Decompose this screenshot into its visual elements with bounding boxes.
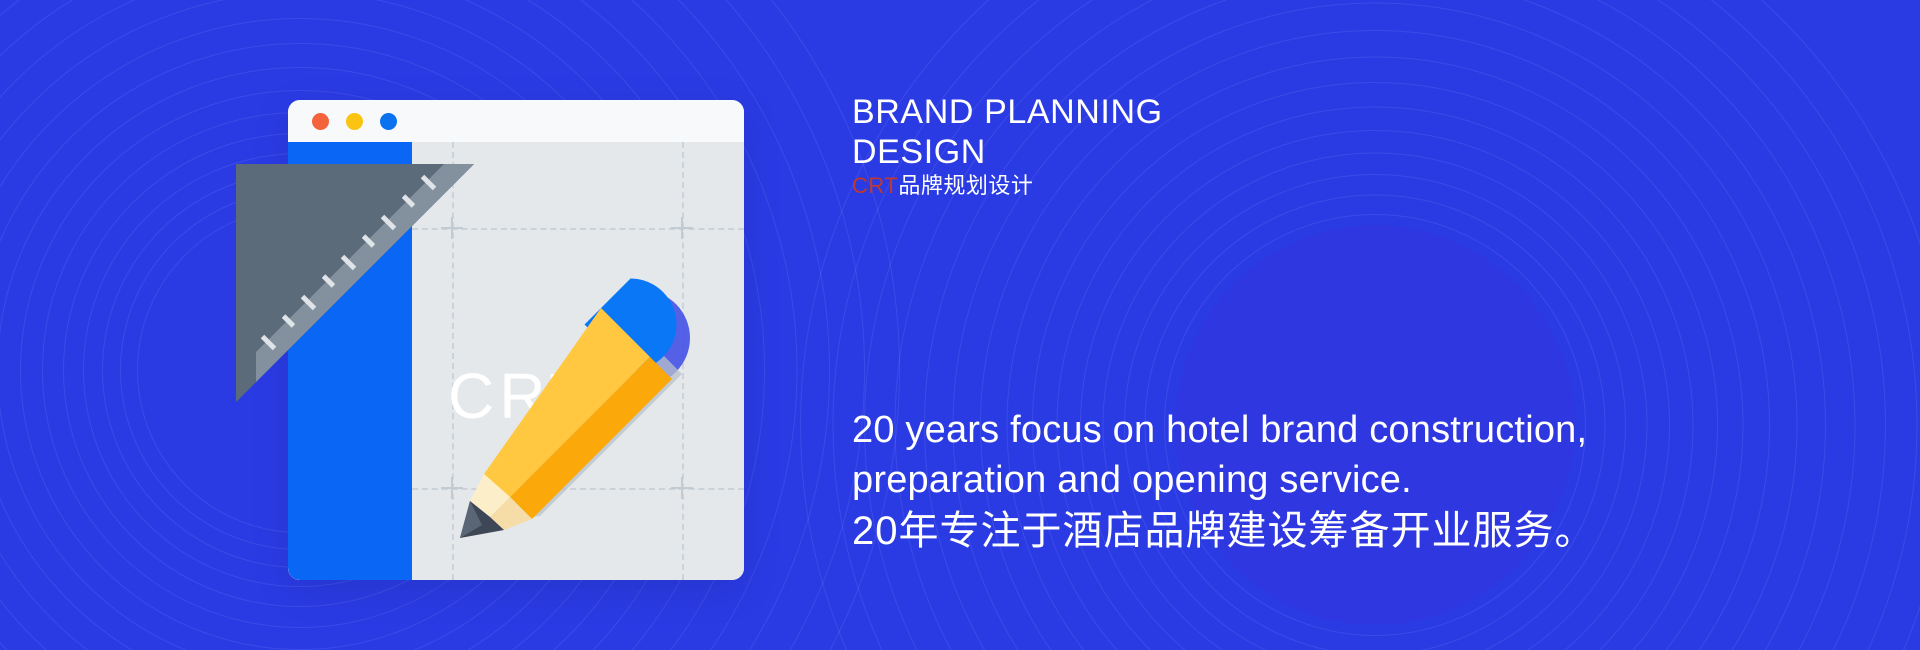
window-controls	[312, 113, 397, 130]
pencil-icon	[446, 220, 746, 550]
window-maximize-dot[interactable]	[380, 113, 397, 130]
tagline-chinese: 20年专注于酒店品牌建设筹备开业服务。	[852, 505, 1596, 557]
hero-illustration: CRT’	[230, 70, 750, 590]
headline: BRAND PLANNING DESIGN	[852, 92, 1163, 172]
tagline-english: 20 years focus on hotel brand constructi…	[852, 405, 1587, 505]
window-titlebar	[288, 100, 744, 142]
hero-banner: CRT’	[0, 0, 1920, 650]
subheadline-cn: 品牌规划设计	[898, 173, 1033, 198]
subheadline: CRT品牌规划设计	[852, 172, 1033, 201]
brand-name: CRT	[852, 173, 898, 198]
hero-copy: BRAND PLANNING DESIGN CRT品牌规划设计 20 years…	[852, 0, 1852, 650]
window-minimize-dot[interactable]	[346, 113, 363, 130]
triangle-ruler-icon	[230, 158, 480, 408]
window-close-dot[interactable]	[312, 113, 329, 130]
